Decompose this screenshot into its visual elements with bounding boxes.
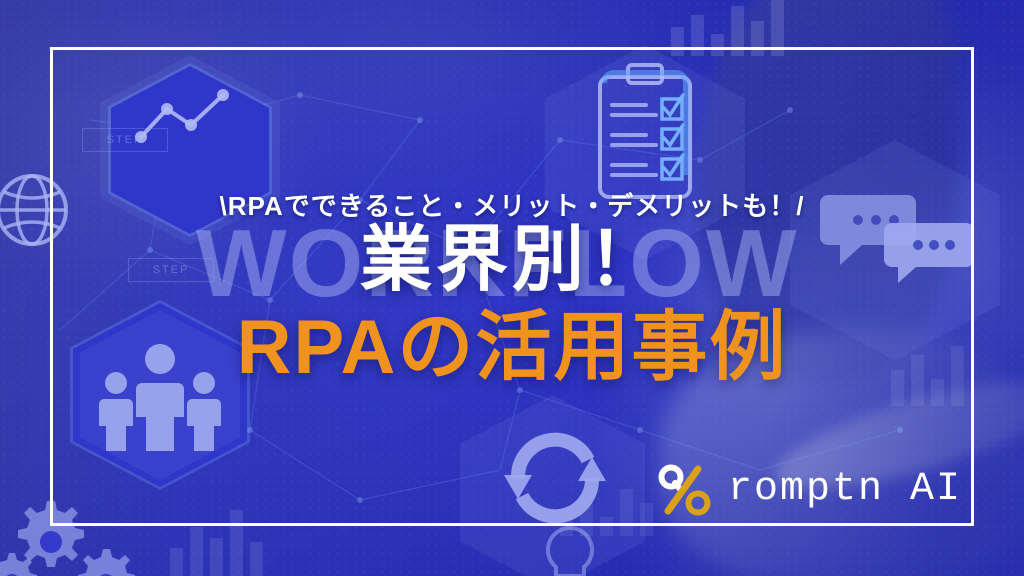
banner-canvas: STEP STEP WORKFLOW \RPAでできること・メリット・デメリット… — [0, 0, 1024, 576]
page-subtitle-accent: RPAの活用事例 — [0, 310, 1024, 386]
page-title: 業界別！ — [0, 224, 1024, 296]
percent-logo-icon — [656, 464, 714, 516]
brand-logo[interactable]: romptn AI — [656, 464, 962, 516]
subtitle-text: \RPAでできること・メリット・デメリットも！/ — [0, 186, 1024, 223]
brand-logo-text: romptn AI — [728, 470, 962, 510]
